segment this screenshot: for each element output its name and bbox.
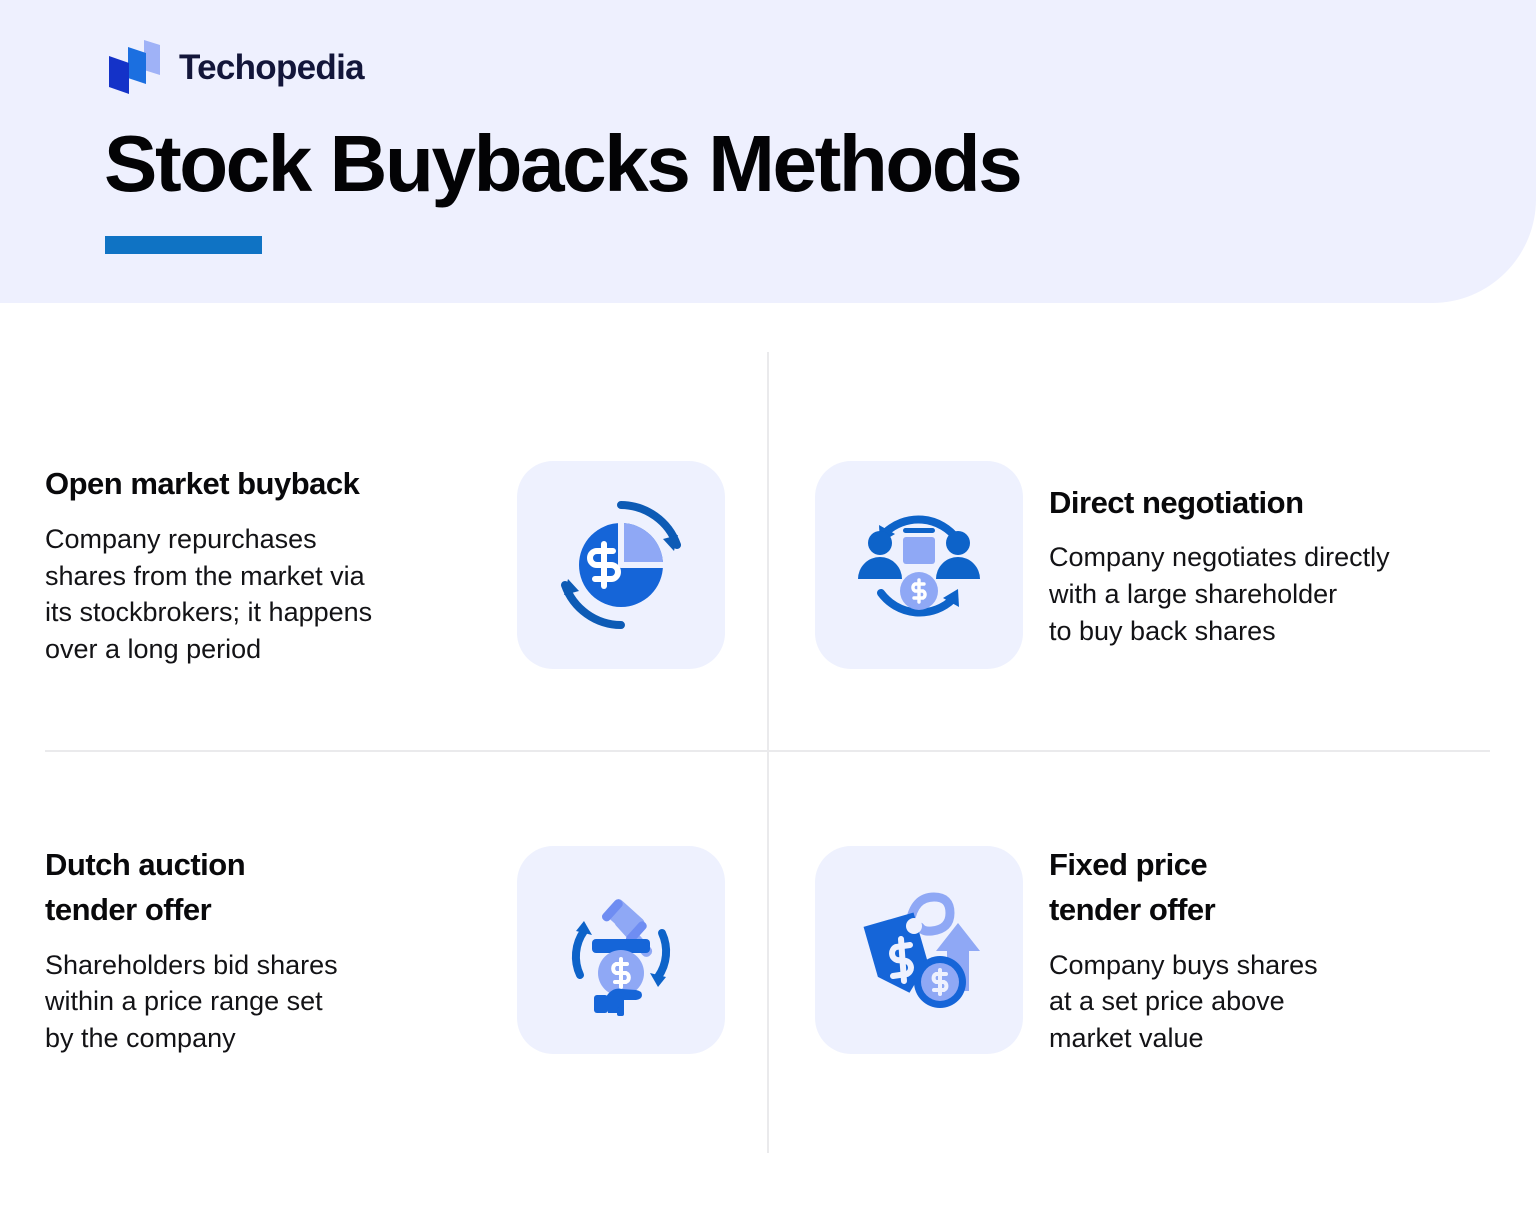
two-people-negotiation-coin-icon: [849, 495, 989, 635]
techopedia-logo-icon: [106, 38, 162, 96]
quadrant-heading: Dutch auction tender offer: [45, 843, 491, 932]
header-banner: Techopedia Stock Buybacks Methods: [0, 0, 1536, 303]
quadrant-body: Shareholders bid shares within a price r…: [45, 947, 491, 1057]
vertical-divider: [767, 352, 769, 1153]
quadrant-dutch-auction-tender-offer: Dutch auction tender offer Shareholders …: [45, 820, 725, 1080]
quadrant-heading: Open market buyback: [45, 462, 491, 507]
quadrant-body: Company repurchases shares from the mark…: [45, 521, 491, 668]
infographic-page: Techopedia Stock Buybacks Methods Open m…: [0, 0, 1536, 1207]
brand-logo: Techopedia: [106, 38, 364, 96]
page-title: Stock Buybacks Methods: [104, 124, 1020, 204]
quadrant-direct-negotiation: Direct negotiation Company negotiates di…: [815, 440, 1495, 690]
quadrant-body: Company negotiates directly with a large…: [1049, 539, 1495, 649]
quadrant-text-block: Direct negotiation Company negotiates di…: [1023, 481, 1495, 650]
quadrant-open-market-buyback: Open market buyback Company repurchases …: [45, 440, 725, 690]
quadrant-heading: Direct negotiation: [1049, 481, 1495, 526]
icon-tile: [517, 461, 725, 669]
icon-tile: [815, 461, 1023, 669]
horizontal-divider: [45, 750, 1490, 752]
quadrant-text-block: Fixed price tender offer Company buys sh…: [1023, 843, 1495, 1056]
quadrant-text-block: Open market buyback Company repurchases …: [45, 462, 517, 668]
pie-chart-refresh-dollar-icon: [551, 495, 691, 635]
quadrant-heading: Fixed price tender offer: [1049, 843, 1495, 932]
quadrant-fixed-price-tender-offer: Fixed price tender offer Company buys sh…: [815, 820, 1495, 1080]
price-tag-coin-up-arrow-icon: [848, 879, 990, 1021]
quadrant-text-block: Dutch auction tender offer Shareholders …: [45, 843, 517, 1056]
icon-tile: [517, 846, 725, 1054]
icon-tile: [815, 846, 1023, 1054]
quadrant-body: Company buys shares at a set price above…: [1049, 947, 1495, 1057]
brand-name: Techopedia: [179, 50, 364, 85]
title-accent-bar: [105, 236, 262, 254]
gavel-auction-coin-hand-icon: [550, 879, 692, 1021]
